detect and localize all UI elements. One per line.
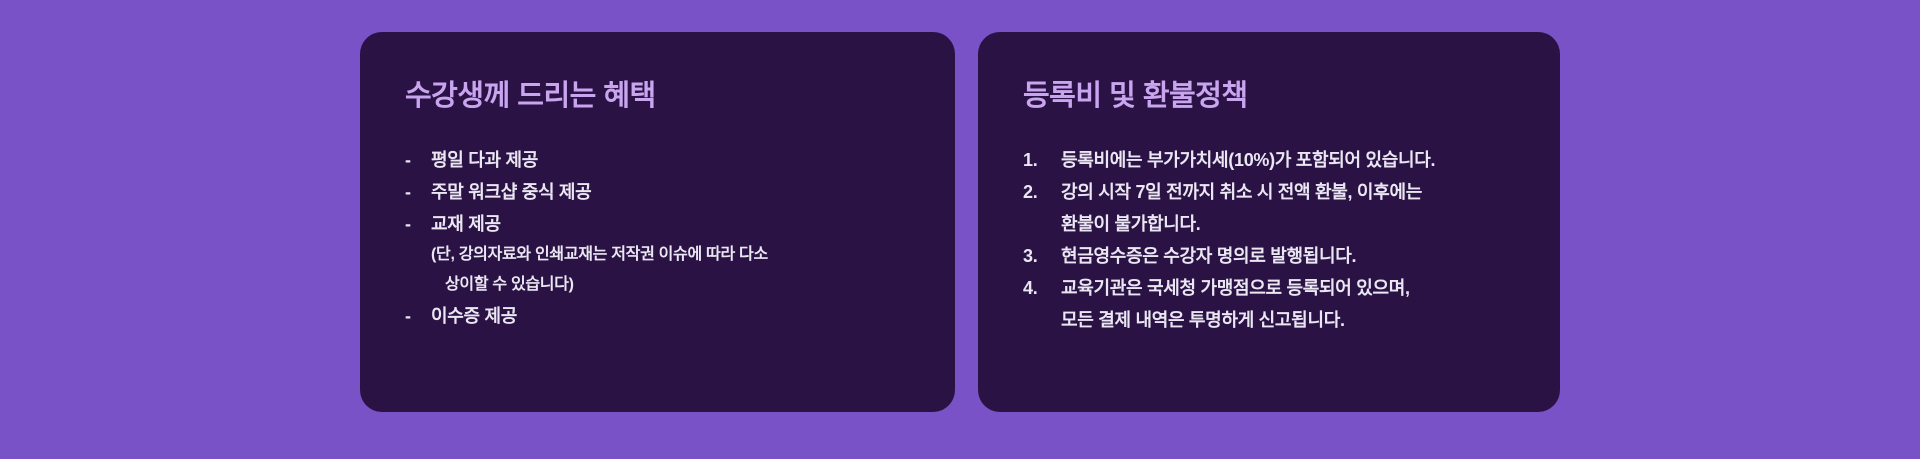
bullet-dash-icon: -	[405, 300, 431, 332]
list-number: 3.	[1023, 240, 1061, 272]
list-item-label: 교육기관은 국세청 가맹점으로 등록되어 있으며,	[1061, 272, 1542, 304]
policy-card: 등록비 및 환불정책 1. 등록비에는 부가가치세(10%)가 포함되어 있습니…	[978, 32, 1560, 412]
policy-card-title: 등록비 및 환불정책	[1023, 72, 1248, 114]
slide-root: 수강생께 드리는 혜택 - 평일 다과 제공 - 주말 워크샵 중식 제공 - …	[0, 0, 1920, 459]
list-item: - 교재 제공	[405, 208, 937, 240]
list-item: 4. 교육기관은 국세청 가맹점으로 등록되어 있으며,	[1023, 272, 1542, 304]
list-item: - 평일 다과 제공	[405, 144, 937, 176]
list-item-label: 교재 제공	[431, 208, 937, 240]
bullet-dash-icon: -	[405, 208, 431, 240]
list-item-label: 강의 시작 7일 전까지 취소 시 전액 환불, 이후에는	[1061, 176, 1542, 208]
list-item-label: 평일 다과 제공	[431, 144, 937, 176]
benefits-card: 수강생께 드리는 혜택 - 평일 다과 제공 - 주말 워크샵 중식 제공 - …	[360, 32, 955, 412]
list-item: - 이수증 제공	[405, 300, 937, 332]
bullet-dash-icon: -	[405, 176, 431, 208]
list-number: 4.	[1023, 272, 1061, 304]
benefits-note-line-2: 상이할 수 있습니다)	[405, 270, 937, 300]
list-item-label: 현금영수증은 수강자 명의로 발행됩니다.	[1061, 240, 1542, 272]
benefits-list: - 평일 다과 제공 - 주말 워크샵 중식 제공 - 교재 제공 (단, 강의…	[405, 144, 937, 332]
list-number: 1.	[1023, 144, 1061, 176]
list-item-label: 이수증 제공	[431, 300, 937, 332]
benefits-card-title: 수강생께 드리는 혜택	[405, 72, 656, 114]
bullet-dash-icon: -	[405, 144, 431, 176]
list-item-continuation: 모든 결제 내역은 투명하게 신고됩니다.	[1023, 304, 1542, 336]
list-number: 2.	[1023, 176, 1061, 208]
policy-list: 1. 등록비에는 부가가치세(10%)가 포함되어 있습니다. 2. 강의 시작…	[1023, 144, 1542, 336]
list-item: 1. 등록비에는 부가가치세(10%)가 포함되어 있습니다.	[1023, 144, 1542, 176]
list-item-continuation: 환불이 불가합니다.	[1023, 208, 1542, 240]
benefits-note-line-1: (단, 강의자료와 인쇄교재는 저작권 이슈에 따라 다소	[405, 240, 937, 270]
list-item: 2. 강의 시작 7일 전까지 취소 시 전액 환불, 이후에는	[1023, 176, 1542, 208]
list-item: - 주말 워크샵 중식 제공	[405, 176, 937, 208]
list-item-label: 주말 워크샵 중식 제공	[431, 176, 937, 208]
list-item-label: 등록비에는 부가가치세(10%)가 포함되어 있습니다.	[1061, 144, 1542, 176]
list-item: 3. 현금영수증은 수강자 명의로 발행됩니다.	[1023, 240, 1542, 272]
